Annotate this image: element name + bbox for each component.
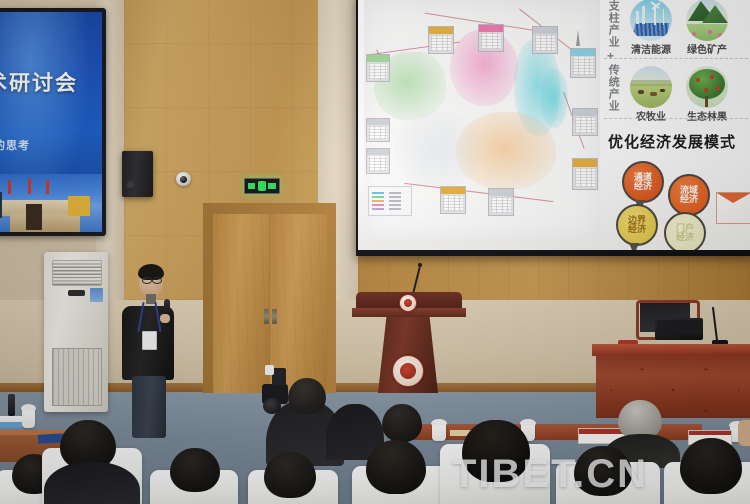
map-callout: [532, 26, 558, 54]
clean-energy-caption: 清洁能源: [624, 41, 678, 56]
wall-speaker: [122, 151, 153, 197]
pin-gateway-economy: 门户 经济: [664, 212, 706, 250]
laptop-screen-edge: [657, 320, 701, 334]
pin-basin-economy: 流域 经济: [668, 174, 710, 216]
door-handle-right[interactable]: [272, 309, 277, 324]
conference-room-photo: 术研讨会 都的思考: [0, 0, 750, 504]
document-stack-blue: [0, 422, 22, 428]
animal-husbandry-icon: [630, 66, 672, 108]
audience-head: [264, 452, 316, 498]
podium-emblem-top: [399, 294, 417, 312]
speaker-cone: [127, 181, 134, 188]
tea-mug-lid: [21, 404, 36, 411]
podium-mic-head: [418, 263, 422, 267]
presenter-hand: [160, 314, 170, 323]
air-conditioner: [44, 252, 108, 412]
map-north-arrow-icon: [576, 30, 580, 46]
animal-husbandry-caption: 农牧业: [624, 108, 678, 123]
exit-sign: [244, 178, 280, 194]
pin-border-economy: 边界 经济: [616, 204, 658, 246]
ac-label: [90, 288, 103, 302]
section-heading: 优化经济发展模式: [608, 131, 736, 152]
section-divider: [604, 118, 748, 119]
eco-forest-fruit-caption: 生态林果: [680, 108, 734, 123]
pin-label-2: 经济: [680, 194, 698, 204]
pin-label-2: 经济: [628, 224, 646, 234]
watermark: TIBET.CN: [452, 452, 648, 497]
projection-screen-frame: 支柱产业 + 传统产业 清洁能源: [356, 0, 750, 256]
left-monitor-frame: 术研讨会 都的思考: [0, 8, 106, 236]
green-mineral-caption: 绿色矿产: [680, 41, 734, 56]
map-callout: [572, 158, 598, 190]
audience-head: [680, 438, 742, 494]
left-monitor-photo: [0, 174, 102, 232]
map-callout: [366, 148, 390, 174]
map-callout: [366, 54, 390, 82]
camera-lens-icon: [263, 398, 281, 414]
map-callout: [572, 108, 598, 136]
podium-emblem-body: [392, 355, 424, 387]
camera-flash: [272, 368, 286, 385]
plus-sign: +: [607, 49, 614, 63]
tea-mug-lid: [520, 419, 536, 426]
camera-flash-head: [265, 365, 274, 375]
tea-mug: [432, 424, 446, 441]
bottle: [8, 394, 15, 416]
dome-camera-icon: [176, 172, 191, 186]
slide-map: [364, 0, 600, 238]
door-left[interactable]: [213, 214, 269, 393]
pillar-industry-label: 支柱产业: [607, 0, 618, 48]
green-mineral-icon: [686, 0, 728, 41]
map-region-pale: [394, 110, 480, 190]
slide-corner-graphic: [716, 192, 750, 224]
pin-label-2: 经济: [634, 181, 652, 191]
tea-mug-lid: [431, 419, 447, 426]
map-legend: [368, 186, 412, 216]
map-callout: [570, 48, 596, 78]
clean-energy-icon: [630, 0, 672, 41]
presenter-glasses-icon: [142, 277, 152, 284]
presiding-desk-front: [596, 356, 750, 418]
audience-head: [366, 440, 426, 494]
desk-panel-ornament: [672, 368, 740, 412]
presiding-desk-top: [592, 344, 750, 356]
left-monitor-title: 术研讨会: [0, 67, 78, 97]
audience-face-edge: [738, 420, 750, 446]
map-callout: [478, 24, 504, 52]
left-monitor-screen: 术研讨会 都的思考: [0, 12, 102, 232]
pin-label-2: 经济: [676, 232, 694, 242]
photographer-head: [288, 378, 326, 414]
pin-channel-economy: 通道 经济: [622, 161, 664, 203]
door-right[interactable]: [270, 214, 327, 393]
map-callout: [440, 186, 466, 214]
tea-mug: [22, 408, 35, 428]
traditional-industry-label: 传统产业: [607, 64, 618, 112]
map-callout: [366, 118, 390, 142]
door-handle-left[interactable]: [264, 309, 269, 324]
audience-head: [170, 448, 220, 492]
map-callout: [488, 188, 514, 216]
audience-head: [382, 404, 422, 442]
presenter-glasses-icon: [152, 277, 162, 284]
eco-forest-fruit-icon: [686, 66, 728, 108]
industry-divider: [604, 58, 748, 59]
projection-screen: 支柱产业 + 传统产业 清洁能源: [358, 0, 750, 250]
ac-display: [68, 290, 85, 296]
presentation-slide: 支柱产业 + 传统产业 清洁能源: [358, 0, 750, 250]
map-callout: [428, 26, 454, 54]
left-monitor-subtitle: 都的思考: [0, 137, 30, 153]
presenter-legs: [132, 376, 166, 438]
map-region-teal: [540, 68, 568, 128]
presenter-badge: [142, 331, 157, 350]
